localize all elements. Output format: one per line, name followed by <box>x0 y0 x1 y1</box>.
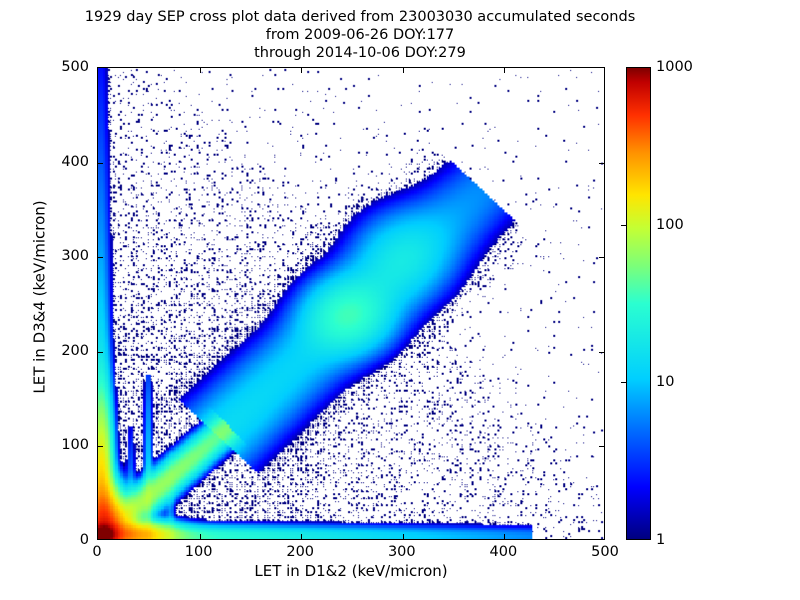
title-line-3: through 2014-10-06 DOY:279 <box>0 44 720 62</box>
y-tick-right-100 <box>599 446 604 447</box>
x-tick-top-400 <box>504 68 505 73</box>
x-tick-label-100: 100 <box>185 544 213 560</box>
colorbar-tick-label-1000: 1000 <box>656 59 693 75</box>
y-tick-100 <box>98 446 103 447</box>
x-tick-label-200: 200 <box>286 544 314 560</box>
title-line-1: 1929 day SEP cross plot data derived fro… <box>0 8 720 26</box>
y-tick-300 <box>98 257 103 258</box>
colorbar-tick-label-1: 1 <box>656 532 665 548</box>
x-tick-100 <box>200 534 201 539</box>
y-tick-right-200 <box>599 352 604 353</box>
x-axis-label: LET in D1&2 (keV/micron) <box>97 562 605 580</box>
chart-title: 1929 day SEP cross plot data derived fro… <box>0 8 720 62</box>
y-tick-right-300 <box>599 257 604 258</box>
density-scatter-canvas <box>98 68 604 539</box>
y-axis-label: LET in D3&4 (keV/micron) <box>31 61 49 534</box>
x-tick-400 <box>504 534 505 539</box>
colorbar-tick-label-10: 10 <box>656 374 674 390</box>
x-tick-top-300 <box>403 68 404 73</box>
x-tick-label-400: 400 <box>490 544 518 560</box>
x-tick-300 <box>403 534 404 539</box>
y-tick-right-400 <box>599 163 604 164</box>
colorbar-tick-label-100: 100 <box>656 217 684 233</box>
x-tick-top-200 <box>301 68 302 73</box>
colorbar-gradient <box>626 67 651 540</box>
x-tick-top-100 <box>200 68 201 73</box>
plot-area <box>97 67 605 540</box>
x-tick-200 <box>301 534 302 539</box>
y-tick-label-0: 0 <box>0 532 89 548</box>
y-tick-200 <box>98 352 103 353</box>
colorbar-tick-100 <box>621 225 626 226</box>
title-line-2: from 2009-06-26 DOY:177 <box>0 26 720 44</box>
x-tick-label-500: 500 <box>591 544 619 560</box>
x-tick-label-300: 300 <box>388 544 416 560</box>
colorbar-tick-10 <box>621 382 626 383</box>
x-tick-label-0: 0 <box>92 544 101 560</box>
y-tick-400 <box>98 163 103 164</box>
colorbar <box>626 67 651 540</box>
